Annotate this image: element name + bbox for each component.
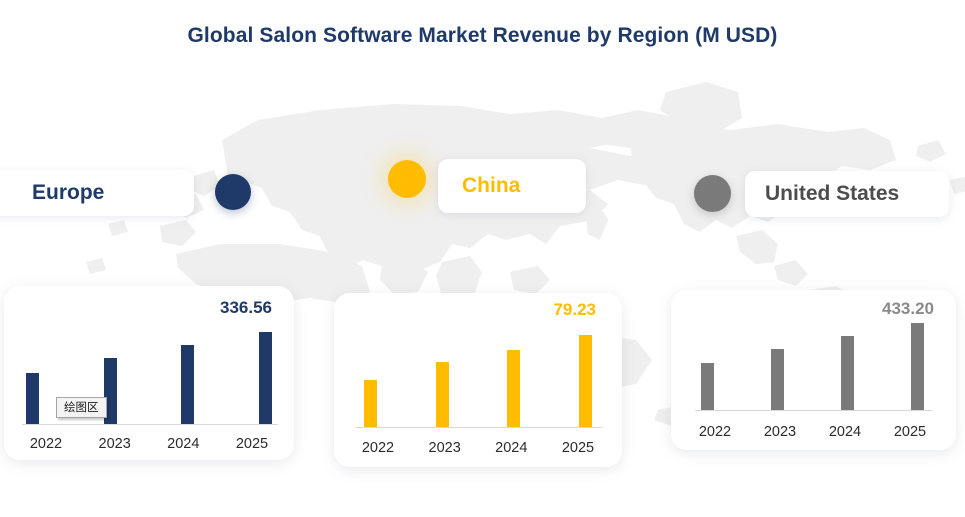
bar-china-2024[interactable] xyxy=(507,350,520,427)
bar-slot[interactable] xyxy=(26,320,39,424)
region-label-china[interactable]: China xyxy=(438,159,586,213)
x-axis-ticks-united-states: 2022 2023 2024 2025 xyxy=(687,424,938,440)
map-pin-dot-united-states[interactable] xyxy=(694,175,731,212)
infographic-canvas: Global Salon Software Market Revenue by … xyxy=(0,0,965,517)
x-tick-label: 2022 xyxy=(18,436,74,452)
chart-card-europe[interactable]: 336.56 2022 2023 2024 2025 xyxy=(4,286,294,460)
x-tick-label: 2023 xyxy=(87,436,143,452)
x-tick-label: 2024 xyxy=(483,440,539,456)
x-tick-label: 2022 xyxy=(687,424,743,440)
bar-slot[interactable] xyxy=(259,320,272,424)
bar-group-united-states xyxy=(701,312,924,410)
bar-europe-2024[interactable] xyxy=(181,345,194,424)
x-axis-ticks-europe: 2022 2023 2024 2025 xyxy=(18,436,280,452)
region-label-europe[interactable]: Europe xyxy=(0,170,194,216)
map-pin-dot-china[interactable] xyxy=(388,160,426,198)
bar-slot[interactable] xyxy=(507,323,520,427)
x-tick-label: 2025 xyxy=(882,424,938,440)
bar-slot[interactable] xyxy=(701,312,714,410)
x-axis-line-united-states xyxy=(695,410,932,411)
x-axis-line-china xyxy=(356,427,602,428)
x-tick-label: 2022 xyxy=(350,440,406,456)
x-axis-ticks-china: 2022 2023 2024 2025 xyxy=(350,440,606,456)
x-tick-label: 2024 xyxy=(155,436,211,452)
region-label-united-states-text: United States xyxy=(765,182,899,206)
bar-united-states-2025[interactable] xyxy=(911,323,924,410)
bar-slot[interactable] xyxy=(911,312,924,410)
bar-slot[interactable] xyxy=(436,323,449,427)
bar-united-states-2023[interactable] xyxy=(771,349,784,410)
chart-card-united-states[interactable]: 433.20 2022 2023 2024 2025 xyxy=(671,290,956,450)
chart-card-china[interactable]: 79.23 2022 2023 2024 2025 xyxy=(334,293,622,467)
bar-slot[interactable] xyxy=(579,323,592,427)
region-label-united-states[interactable]: United States xyxy=(745,171,949,217)
x-tick-label: 2025 xyxy=(550,440,606,456)
map-pin-dot-europe[interactable] xyxy=(215,174,251,210)
bar-group-china xyxy=(364,323,592,427)
page-title: Global Salon Software Market Revenue by … xyxy=(0,24,965,48)
bar-slot[interactable] xyxy=(181,320,194,424)
bar-europe-2025[interactable] xyxy=(259,332,272,424)
x-tick-label: 2024 xyxy=(817,424,873,440)
region-label-europe-text: Europe xyxy=(32,181,104,205)
bar-united-states-2022[interactable] xyxy=(701,363,714,410)
plot-area-tooltip: 绘图区 xyxy=(56,397,107,418)
headline-value-china: 79.23 xyxy=(553,300,596,320)
x-axis-line-europe xyxy=(22,424,278,425)
bar-europe-2022[interactable] xyxy=(26,373,39,424)
x-tick-label: 2023 xyxy=(417,440,473,456)
bar-china-2022[interactable] xyxy=(364,380,377,427)
region-label-china-text: China xyxy=(462,174,520,198)
bar-slot[interactable] xyxy=(841,312,854,410)
bar-china-2023[interactable] xyxy=(436,362,449,427)
bar-slot[interactable] xyxy=(364,323,377,427)
x-tick-label: 2025 xyxy=(224,436,280,452)
bar-slot[interactable] xyxy=(771,312,784,410)
bar-united-states-2024[interactable] xyxy=(841,336,854,410)
x-tick-label: 2023 xyxy=(752,424,808,440)
headline-value-europe: 336.56 xyxy=(220,298,272,318)
bar-china-2025[interactable] xyxy=(579,335,592,427)
